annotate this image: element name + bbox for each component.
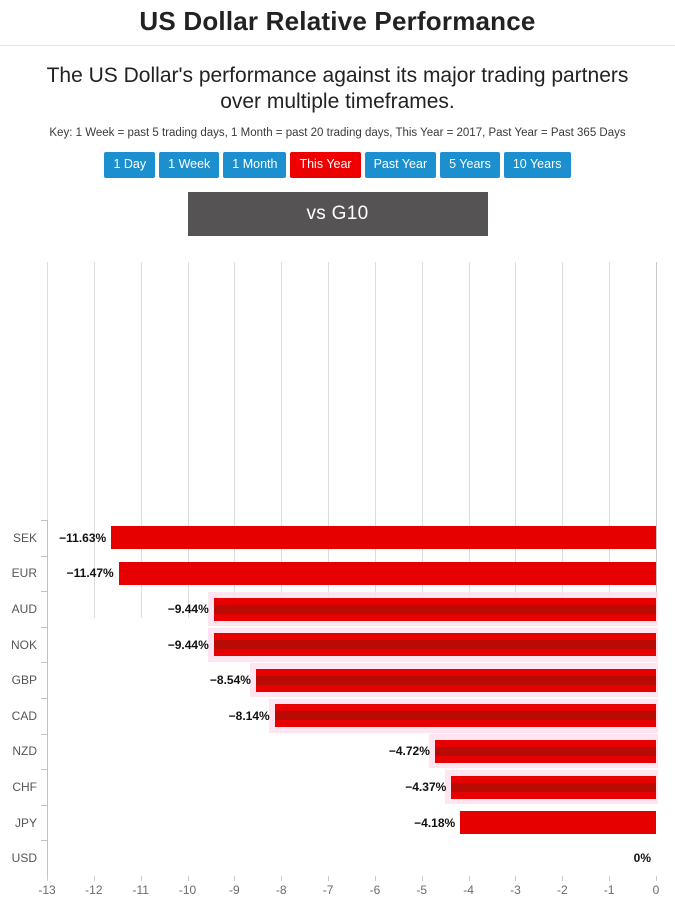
- bar-value-nzd: −4.72%: [389, 745, 430, 757]
- x-axis-label: -12: [74, 884, 114, 896]
- x-axis-tick: [141, 876, 142, 881]
- timeframe-button-5-years[interactable]: 5 Years: [440, 152, 500, 178]
- bar-value-nok: −9.44%: [168, 639, 209, 651]
- x-axis-tick: [515, 876, 516, 881]
- y-axis-label-nzd: NZD: [0, 745, 37, 757]
- x-axis-tick: [375, 876, 376, 881]
- y-axis-label-nok: NOK: [0, 639, 37, 651]
- x-axis-label: -11: [121, 884, 161, 896]
- bar-value-sek: −11.63%: [59, 532, 106, 544]
- bar-jpy[interactable]: [460, 811, 656, 834]
- y-axis-tick: [41, 698, 47, 699]
- page-subtitle: The US Dollar's performance against its …: [26, 63, 649, 117]
- y-axis-tick: [41, 769, 47, 770]
- bar-gbp[interactable]: [256, 669, 656, 692]
- y-axis-tick: [41, 840, 47, 841]
- x-axis-label: -3: [495, 884, 535, 896]
- timeframe-button-this-year[interactable]: This Year: [290, 152, 360, 178]
- bar-value-eur: −11.47%: [67, 567, 114, 579]
- x-axis-label: 0: [636, 884, 675, 896]
- bar-cad[interactable]: [275, 704, 656, 727]
- bar-nzd[interactable]: [435, 740, 656, 763]
- x-axis-tick: [188, 876, 189, 881]
- gridline: [656, 262, 657, 618]
- group-banner: vs G10: [188, 192, 488, 236]
- x-axis-tick: [469, 876, 470, 881]
- timeframe-button-1-day[interactable]: 1 Day: [104, 152, 155, 178]
- x-axis-label: -8: [261, 884, 301, 896]
- bar-value-usd: 0%: [634, 852, 651, 864]
- bar-chf[interactable]: [451, 776, 656, 799]
- y-axis-label-gbp: GBP: [0, 674, 37, 686]
- bar-aud[interactable]: [214, 598, 656, 621]
- bar-eur[interactable]: [119, 562, 656, 585]
- y-axis-tick: [41, 591, 47, 592]
- x-axis-label: -10: [168, 884, 208, 896]
- timeframe-button-past-year[interactable]: Past Year: [365, 152, 437, 178]
- x-axis-tick: [656, 876, 657, 881]
- y-axis-tick: [41, 734, 47, 735]
- x-axis-label: -5: [402, 884, 442, 896]
- y-axis-line: [47, 520, 48, 876]
- x-axis-label: -1: [589, 884, 629, 896]
- timeframe-button-group: 1 Day1 Week1 MonthThis YearPast Year5 Ye…: [0, 152, 675, 178]
- x-axis-label: -6: [355, 884, 395, 896]
- bar-inner-band: [214, 605, 656, 614]
- timeframe-button-1-month[interactable]: 1 Month: [223, 152, 286, 178]
- y-axis-tick: [41, 662, 47, 663]
- x-axis-label: -13: [27, 884, 67, 896]
- gridline: [94, 262, 95, 618]
- y-axis-label-cad: CAD: [0, 710, 37, 722]
- x-axis-label: -4: [449, 884, 489, 896]
- page-title: US Dollar Relative Performance: [0, 0, 675, 45]
- key-legend-text: Key: 1 Week = past 5 trading days, 1 Mon…: [0, 127, 675, 139]
- y-axis-tick: [41, 520, 47, 521]
- y-axis-label-jpy: JPY: [0, 817, 37, 829]
- bar-sek[interactable]: [111, 526, 656, 549]
- header-divider: [0, 45, 675, 46]
- timeframe-button-1-week[interactable]: 1 Week: [159, 152, 219, 178]
- x-axis-label: -9: [214, 884, 254, 896]
- x-axis-tick: [609, 876, 610, 881]
- y-axis-label-eur: EUR: [0, 567, 37, 579]
- y-axis-label-usd: USD: [0, 852, 37, 864]
- y-axis-label-chf: CHF: [0, 781, 37, 793]
- bar-inner-band: [256, 676, 656, 685]
- x-axis-tick: [94, 876, 95, 881]
- bar-value-cad: −8.14%: [229, 710, 270, 722]
- y-axis-label-aud: AUD: [0, 603, 37, 615]
- x-axis-tick: [281, 876, 282, 881]
- bar-inner-band: [275, 711, 656, 720]
- bar-chart: -13-12-11-10-9-8-7-6-5-4-3-2-10SEK−11.63…: [0, 258, 675, 665]
- x-axis-label: -7: [308, 884, 348, 896]
- timeframe-button-10-years[interactable]: 10 Years: [504, 152, 571, 178]
- x-axis-tick: [562, 876, 563, 881]
- y-axis-label-sek: SEK: [0, 532, 37, 544]
- bar-nok[interactable]: [214, 633, 656, 656]
- bar-value-chf: −4.37%: [405, 781, 446, 793]
- y-axis-tick: [41, 556, 47, 557]
- bar-inner-band: [451, 783, 656, 792]
- bar-value-jpy: −4.18%: [414, 817, 455, 829]
- bar-inner-band: [214, 640, 656, 649]
- bar-value-aud: −9.44%: [168, 603, 209, 615]
- y-axis-tick: [41, 805, 47, 806]
- x-axis-tick: [47, 876, 48, 881]
- x-axis-label: -2: [542, 884, 582, 896]
- bar-value-gbp: −8.54%: [210, 674, 251, 686]
- y-axis-tick: [41, 627, 47, 628]
- x-axis-tick: [422, 876, 423, 881]
- x-axis-tick: [328, 876, 329, 881]
- bar-inner-band: [435, 747, 656, 756]
- x-axis-tick: [234, 876, 235, 881]
